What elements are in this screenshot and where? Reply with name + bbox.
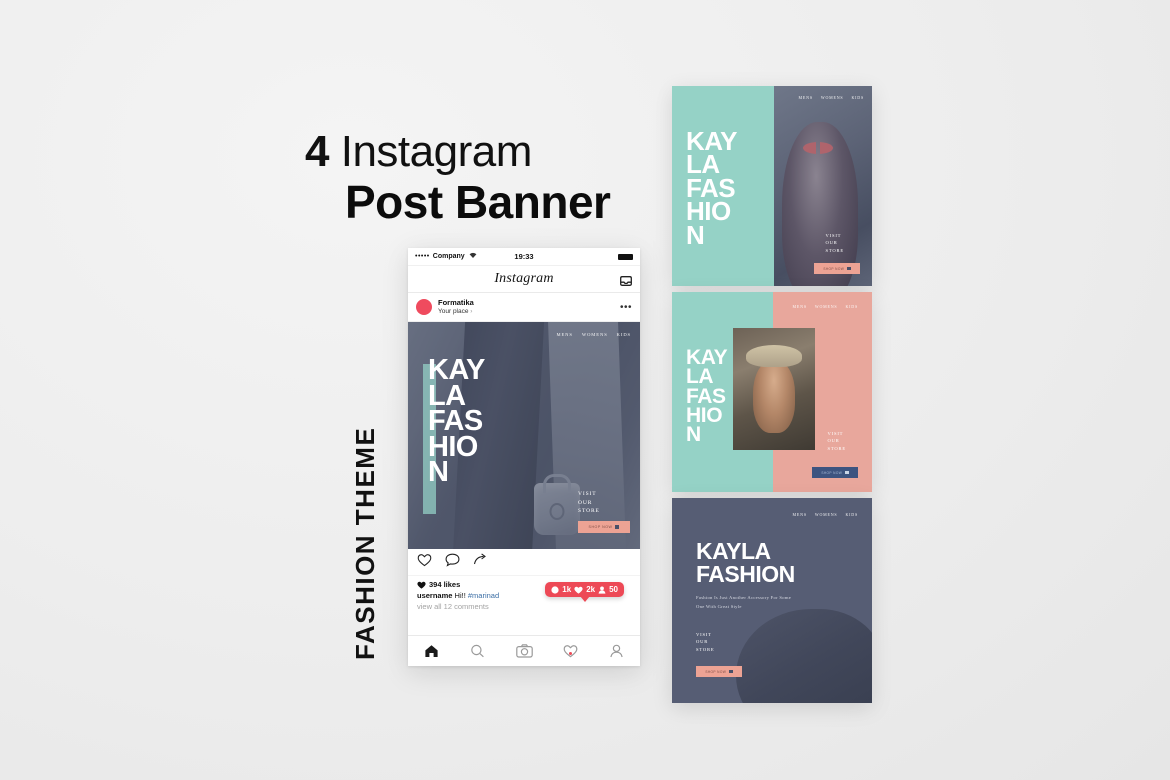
tab-camera[interactable] [501, 644, 547, 658]
share-button[interactable] [473, 553, 488, 572]
subtitle-line-1: Fashion Is Just Another Accessory For So… [696, 594, 836, 603]
banner-1-photo [774, 86, 872, 286]
nav-mens[interactable]: MENS [799, 95, 813, 100]
post-title-line-5: N [428, 460, 485, 486]
instagram-header: Instagram [408, 266, 640, 293]
badge-tail [580, 596, 590, 602]
post-shop-button[interactable]: SHOP NOW [578, 521, 630, 533]
title-line-2: LA [686, 367, 727, 386]
banner-3-nav: MENS WOMENS KIDS [793, 512, 858, 517]
banner-2-visit-text: VISIT OUR STORE [828, 430, 846, 452]
vertical-theme-label: FASHION THEME [350, 380, 390, 660]
post-author-block: Formatika Your place › [438, 299, 474, 315]
phone-mockup: ••••• Company 19:33 Instagram Formatika … [408, 248, 640, 666]
likes-count: 394 likes [429, 580, 460, 589]
chevron-right-icon: › [470, 308, 472, 315]
post-visit-text: VISIT OUR STORE [578, 490, 630, 516]
title-line-2: FASHION [696, 563, 795, 586]
visit-line-3: STORE [828, 445, 846, 452]
poster-canvas: 4 Instagram Post Banner FASHION THEME ••… [0, 0, 1170, 780]
visit-line-1: VISIT [696, 631, 714, 638]
arrow-square-icon [845, 471, 849, 475]
post-header: Formatika Your place › ••• [408, 293, 640, 322]
banner-1-title: KAY LA FAS HIO N [686, 130, 737, 247]
visit-line-3: STORE [826, 247, 844, 254]
nav-mens[interactable]: MENS [793, 304, 807, 309]
visit-line-2: OUR [696, 638, 714, 645]
post-location[interactable]: Your place › [438, 308, 474, 315]
banner-2-shop-label: SHOP NOW [821, 471, 842, 475]
visit-line-3: STORE [696, 646, 714, 653]
post-nav: MENS WOMENS KIDS [556, 332, 631, 337]
profile-icon [609, 644, 624, 658]
post-image: MENS WOMENS KIDS KAY LA FAS HIO N VISIT … [408, 322, 640, 549]
nav-mens[interactable]: MENS [793, 512, 807, 517]
visit-line-3: STORE [578, 507, 630, 516]
nav-womens[interactable]: WOMENS [815, 512, 838, 517]
title-line-5: N [686, 425, 727, 444]
post-title: KAY LA FAS HIO N [428, 358, 485, 486]
bottom-tab-bar [408, 635, 640, 666]
banner-1-shop-button[interactable]: SHOP NOW [814, 263, 860, 274]
arrow-square-icon [847, 267, 851, 271]
heart-filled-icon [417, 581, 426, 589]
nav-womens[interactable]: WOMENS [582, 332, 608, 337]
caption-username[interactable]: username [417, 591, 452, 600]
nav-womens[interactable]: WOMENS [815, 304, 838, 309]
banner-3-photo-shape [736, 609, 872, 703]
badge-comments-count: 1k [562, 585, 571, 594]
heart-icon [574, 586, 583, 594]
arrow-square-icon [729, 670, 733, 674]
banner-1-visit-text: VISIT OUR STORE [826, 232, 844, 254]
arrow-square-icon [615, 525, 619, 529]
activity-dot [569, 652, 572, 655]
banner-2-photo [733, 328, 815, 450]
banner-3-visit-text: VISIT OUR STORE [696, 631, 714, 653]
banner-3: MENS WOMENS KIDS KAYLA FASHION Fashion I… [672, 498, 872, 703]
notification-badge: 1k 2k 50 [545, 582, 624, 597]
banner-1: MENS WOMENS KIDS KAY LA FAS HIO N VISIT … [672, 86, 872, 286]
more-options-icon[interactable]: ••• [620, 302, 632, 313]
tab-activity[interactable] [547, 644, 593, 658]
headline-line-1: 4 Instagram [305, 128, 635, 176]
person-icon [598, 586, 606, 594]
tab-search[interactable] [454, 644, 500, 658]
post-location-text: Your place [438, 308, 468, 315]
banner-3-title: KAYLA FASHION [696, 540, 795, 587]
tab-home[interactable] [408, 644, 454, 658]
banner-1-nav: MENS WOMENS KIDS [799, 95, 864, 100]
title-line-1: KAYLA [696, 540, 795, 563]
nav-womens[interactable]: WOMENS [821, 95, 844, 100]
home-icon [424, 644, 439, 658]
post-meta: 394 likes username Hi!! #marinad view al… [408, 576, 640, 611]
status-time: 19:33 [408, 252, 640, 261]
tab-profile[interactable] [594, 644, 640, 658]
nav-kids[interactable]: KIDS [617, 332, 631, 337]
avatar[interactable] [416, 299, 432, 315]
nav-mens[interactable]: MENS [556, 332, 572, 337]
caption-text: Hi!! [455, 591, 466, 600]
post-actions [408, 549, 640, 576]
banner-2-nav: MENS WOMENS KIDS [793, 304, 858, 309]
visit-line-2: OUR [578, 499, 630, 508]
headline-line-2: Post Banner [345, 176, 635, 228]
badge-followers-count: 50 [609, 585, 618, 594]
badge-likes-count: 2k [586, 585, 595, 594]
search-icon [470, 644, 485, 658]
headline-word: Instagram [341, 127, 532, 176]
banner-3-subtitle: Fashion Is Just Another Accessory For So… [696, 594, 836, 611]
title-line-5: N [686, 224, 737, 247]
banner-2-title: KAY LA FAS HIO N [686, 348, 727, 445]
view-all-comments-link[interactable]: view all 12 comments [417, 602, 631, 611]
comment-button[interactable] [445, 553, 460, 572]
post-username[interactable]: Formatika [438, 299, 474, 308]
banner-2-shop-button[interactable]: SHOP NOW [812, 467, 858, 478]
visit-line-1: VISIT [578, 490, 630, 499]
inbox-icon[interactable] [620, 273, 632, 283]
caption-hashtag[interactable]: #marinad [468, 591, 499, 600]
camera-icon [516, 644, 533, 658]
nav-kids[interactable]: KIDS [851, 95, 864, 100]
subtitle-line-2: One With Great Style [696, 603, 836, 612]
visit-line-1: VISIT [826, 232, 844, 239]
nav-kids[interactable]: KIDS [845, 304, 858, 309]
post-cta: VISIT OUR STORE SHOP NOW [578, 490, 630, 533]
headline-block: 4 Instagram Post Banner [305, 128, 635, 228]
nav-kids[interactable]: KIDS [845, 512, 858, 517]
heart-icon [563, 644, 578, 658]
banner-2: MENS WOMENS KIDS KAY LA FAS HIO N VISIT … [672, 292, 872, 492]
comment-bubble-icon [551, 586, 559, 594]
instagram-logo: Instagram [494, 271, 553, 287]
headline-number: 4 [305, 127, 329, 176]
visit-line-1: VISIT [828, 430, 846, 437]
visit-line-2: OUR [828, 437, 846, 444]
banner-3-shop-button[interactable]: SHOP NOW [696, 666, 742, 677]
post-shop-button-label: SHOP NOW [589, 525, 613, 529]
like-button[interactable] [417, 553, 432, 572]
status-bar: ••••• Company 19:33 [408, 248, 640, 266]
visit-line-2: OUR [826, 239, 844, 246]
banner-1-shop-label: SHOP NOW [823, 267, 844, 271]
banner-3-shop-label: SHOP NOW [705, 670, 726, 674]
